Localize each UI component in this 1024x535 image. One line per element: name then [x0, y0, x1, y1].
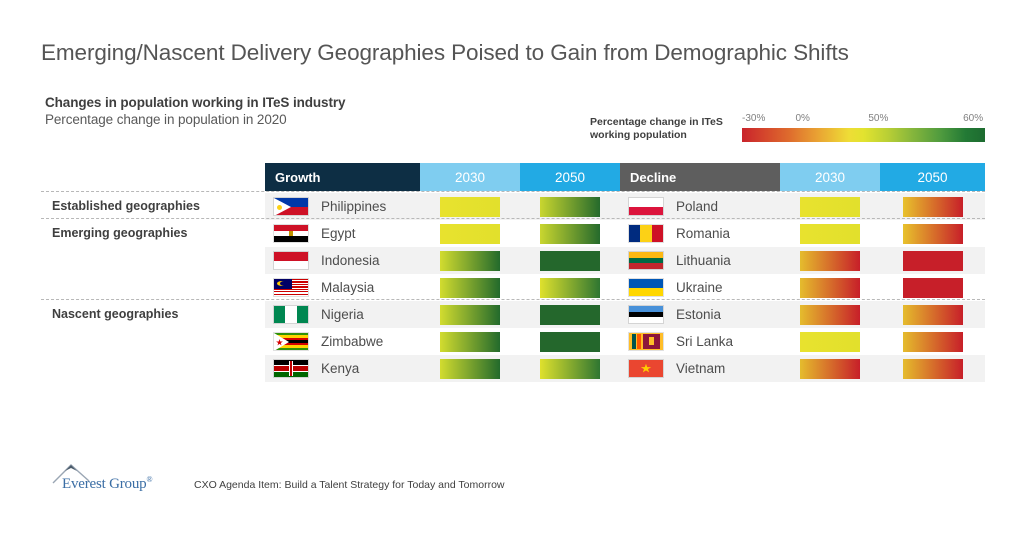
value-swatch-2030 — [800, 197, 860, 217]
value-swatch-2030 — [800, 359, 860, 379]
table-row: Philippines — [265, 193, 620, 220]
value-swatch-2030 — [440, 332, 500, 352]
header-growth: Growth — [265, 163, 420, 191]
value-swatch-2030 — [800, 305, 860, 325]
flag-icon-vietnam — [628, 359, 664, 378]
table-row: Ukraine — [620, 274, 985, 301]
country-name: Zimbabwe — [321, 328, 383, 355]
value-swatch-2050 — [540, 224, 600, 244]
value-swatch-2050 — [540, 359, 600, 379]
legend-gradient-bar — [742, 128, 985, 142]
flag-icon-philippines — [273, 197, 309, 216]
value-swatch-2030 — [800, 224, 860, 244]
value-swatch-2050 — [903, 251, 963, 271]
country-name: Estonia — [676, 301, 721, 328]
legend-caption-line1: Percentage change in ITeS — [590, 116, 740, 129]
value-swatch-2050 — [540, 251, 600, 271]
legend-tick-0: -30% — [742, 113, 765, 124]
value-swatch-2050 — [903, 359, 963, 379]
country-name: Sri Lanka — [676, 328, 733, 355]
band-separator — [41, 299, 985, 300]
flag-icon-poland — [628, 197, 664, 216]
table-row: Lithuania — [620, 247, 985, 274]
value-swatch-2030 — [800, 251, 860, 271]
header-growth-2030: 2030 — [420, 163, 520, 191]
value-swatch-2050 — [903, 332, 963, 352]
country-name: Romania — [676, 220, 730, 247]
value-swatch-2050 — [540, 197, 600, 217]
legend-caption: Percentage change in ITeS working popula… — [590, 116, 740, 142]
flag-icon-romania — [628, 224, 664, 243]
country-name: Nigeria — [321, 301, 364, 328]
country-name: Lithuania — [676, 247, 731, 274]
footer-note: CXO Agenda Item: Build a Talent Strategy… — [194, 479, 505, 491]
band-separator — [41, 191, 985, 192]
logo-wordmark: Everest Group — [62, 476, 146, 492]
country-name: Philippines — [321, 193, 386, 220]
value-swatch-2030 — [440, 197, 500, 217]
country-name: Kenya — [321, 355, 359, 382]
category-label-0: Established geographies — [52, 199, 200, 213]
table-row: Poland — [620, 193, 985, 220]
value-swatch-2030 — [440, 251, 500, 271]
table-row: Estonia — [620, 301, 985, 328]
table-row: Indonesia — [265, 247, 620, 274]
legend-tick-1: 0% — [795, 113, 809, 124]
value-swatch-2050 — [540, 305, 600, 325]
page-title: Emerging/Nascent Delivery Geographies Po… — [41, 40, 849, 66]
value-swatch-2050 — [903, 305, 963, 325]
country-name: Egypt — [321, 220, 356, 247]
value-swatch-2050 — [540, 332, 600, 352]
table-row: Sri Lanka — [620, 328, 985, 355]
legend-tick-2: 50% — [868, 113, 888, 124]
flag-icon-zimbabwe — [273, 332, 309, 351]
table-row: Romania — [620, 220, 985, 247]
flag-icon-estonia — [628, 305, 664, 324]
country-name: Indonesia — [321, 247, 380, 274]
registered-mark: ® — [146, 475, 152, 484]
subtitle-sub: Percentage change in population in 2020 — [45, 112, 345, 127]
value-swatch-2030 — [440, 224, 500, 244]
flag-icon-ukraine — [628, 278, 664, 297]
value-swatch-2050 — [903, 278, 963, 298]
value-swatch-2050 — [540, 278, 600, 298]
flag-icon-malaysia — [273, 278, 309, 297]
legend-caption-line2: working population — [590, 129, 740, 142]
table-row: Egypt — [265, 220, 620, 247]
legend-tick-labels: -30%0%50%60% — [742, 113, 985, 128]
category-label-1: Emerging geographies — [52, 226, 187, 240]
legend-scale: -30%0%50%60% — [742, 113, 985, 142]
country-name: Ukraine — [676, 274, 723, 301]
value-swatch-2030 — [800, 332, 860, 352]
flag-icon-lithuania — [628, 251, 664, 270]
band-separator — [41, 218, 985, 219]
value-swatch-2030 — [440, 305, 500, 325]
table-row: Kenya — [265, 355, 620, 382]
value-swatch-2030 — [440, 278, 500, 298]
country-name: Vietnam — [676, 355, 725, 382]
flag-icon-egypt — [273, 224, 309, 243]
table-row: Vietnam — [620, 355, 985, 382]
legend-tick-3: 60% — [963, 113, 983, 124]
subtitle-block: Changes in population working in ITeS in… — [45, 95, 345, 127]
category-label-2: Nascent geographies — [52, 307, 178, 321]
flag-icon-srilanka — [628, 332, 664, 351]
header-decline-2050: 2050 — [880, 163, 985, 191]
header-decline-2030: 2030 — [780, 163, 880, 191]
flag-icon-nigeria — [273, 305, 309, 324]
value-swatch-2050 — [903, 224, 963, 244]
country-name: Poland — [676, 193, 718, 220]
flag-icon-kenya — [273, 359, 309, 378]
table-row: Nigeria — [265, 301, 620, 328]
country-name: Malaysia — [321, 274, 374, 301]
value-swatch-2030 — [800, 278, 860, 298]
table-row: Zimbabwe — [265, 328, 620, 355]
subtitle-main: Changes in population working in ITeS in… — [45, 95, 345, 110]
header-decline: Decline — [620, 163, 780, 191]
table-row: Malaysia — [265, 274, 620, 301]
value-swatch-2030 — [440, 359, 500, 379]
header-growth-2050: 2050 — [520, 163, 620, 191]
value-swatch-2050 — [903, 197, 963, 217]
everest-group-logo-text: Everest Group® — [62, 475, 152, 493]
flag-icon-indonesia — [273, 251, 309, 270]
